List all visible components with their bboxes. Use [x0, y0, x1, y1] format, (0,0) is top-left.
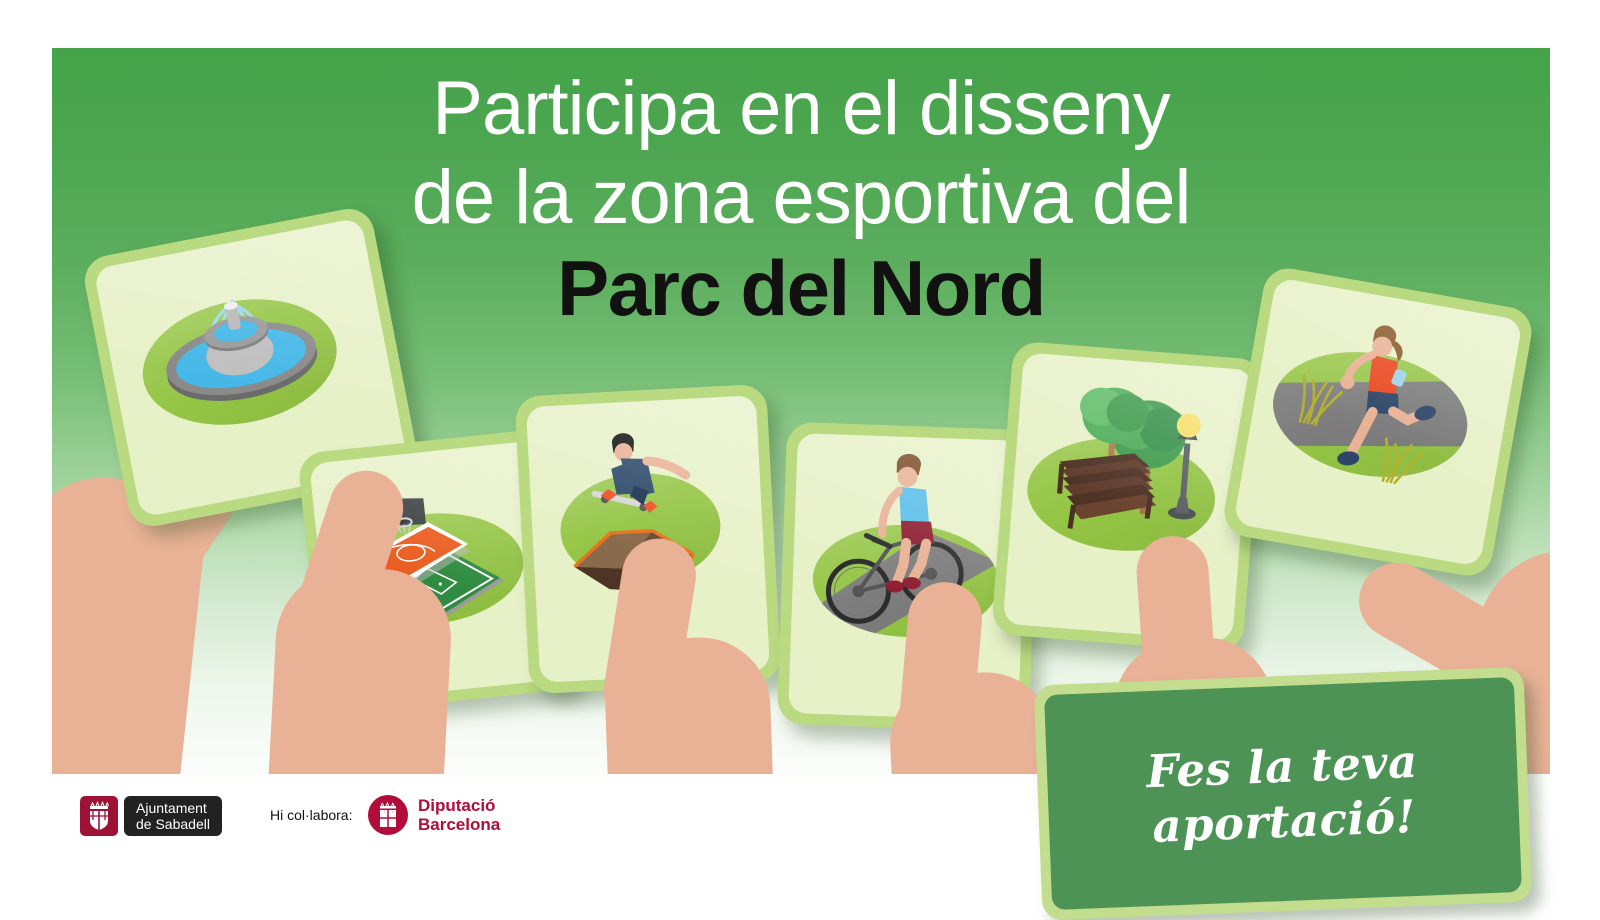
hand-middle-1: [552, 528, 832, 774]
cta-line-2: aportació!: [1151, 789, 1416, 852]
logo-diputacio-barcelona[interactable]: Diputació Barcelona: [368, 795, 500, 835]
diputacio-wordmark: Diputació Barcelona: [418, 796, 500, 834]
cta-text: Fes la teva aportació!: [1145, 733, 1420, 853]
ajuntament-line-2: de Sabadell: [136, 816, 210, 832]
ajuntament-line-1: Ajuntament: [136, 800, 210, 816]
diputacio-line-2: Barcelona: [418, 815, 500, 834]
cta-line-1: Fes la teva: [1145, 734, 1418, 797]
sabadell-wordmark: Ajuntament de Sabadell: [124, 796, 222, 836]
diputacio-line-1: Diputació: [418, 796, 500, 815]
crown-shield-glyph: [86, 801, 112, 831]
index-finger: [897, 579, 985, 750]
cta-card[interactable]: Fes la teva aportació!: [1034, 667, 1533, 920]
sabadell-shield-icon: [80, 796, 118, 836]
cta-inner: Fes la teva aportació!: [1044, 677, 1522, 910]
headline-line-1: Participa en el disseny: [52, 64, 1550, 153]
crown-crest-glyph: [375, 801, 401, 829]
collaborator-label: Hi col·labora:: [270, 807, 352, 823]
hand-left-2: [232, 448, 532, 774]
promo-banner: Participa en el disseny de la zona espor…: [52, 48, 1550, 774]
diputacio-crest-icon: [368, 795, 408, 835]
logo-ajuntament-sabadell[interactable]: Ajuntament de Sabadell: [80, 796, 222, 836]
